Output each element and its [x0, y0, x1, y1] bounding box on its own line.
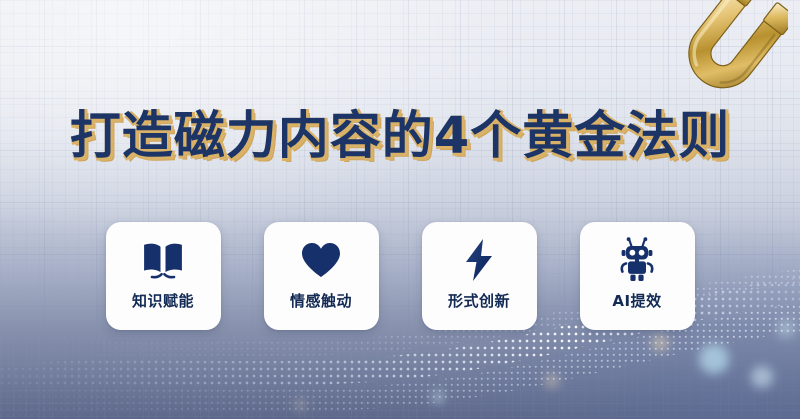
- open-book-icon: [140, 237, 186, 283]
- page-title-wrapper: 打造磁力内容的4个黄金法则: [0, 108, 800, 165]
- feature-card-label: 知识赋能: [132, 290, 194, 311]
- feature-card-knowledge[interactable]: 知识赋能: [106, 222, 221, 330]
- feature-card-format[interactable]: 形式创新: [422, 222, 537, 330]
- poster-canvas: 打造磁力内容的4个黄金法则 知识赋能 情感触动: [0, 0, 800, 419]
- heart-icon: [298, 237, 344, 283]
- feature-card-emotion[interactable]: 情感触动: [264, 222, 379, 330]
- feature-card-ai[interactable]: AI提效: [580, 222, 695, 330]
- feature-card-label: AI提效: [612, 290, 661, 311]
- robot-icon: [614, 237, 660, 283]
- page-title: 打造磁力内容的4个黄金法则: [70, 108, 731, 165]
- lightning-bolt-icon: [456, 237, 502, 283]
- feature-card-label: 情感触动: [290, 290, 352, 311]
- feature-card-label: 形式创新: [448, 290, 510, 311]
- feature-card-row: 知识赋能 情感触动: [0, 222, 800, 330]
